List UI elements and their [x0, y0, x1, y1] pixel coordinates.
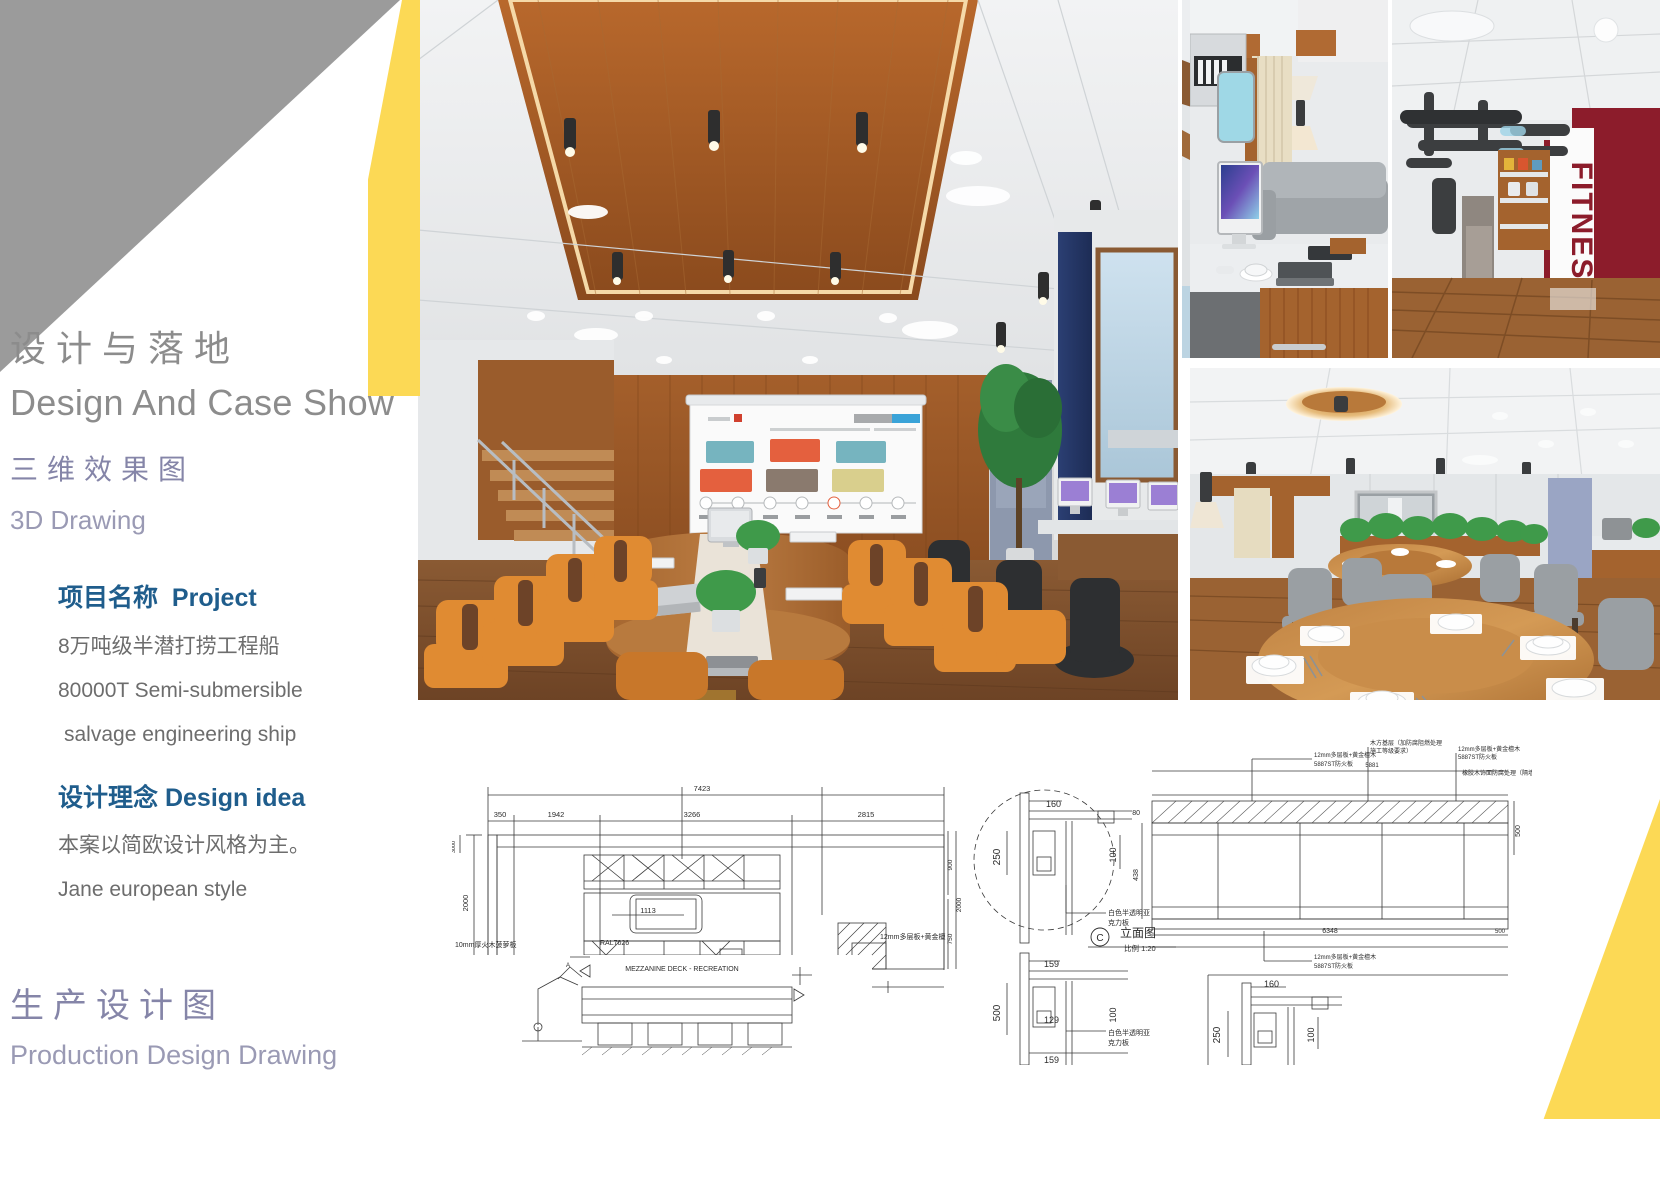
- cad-view-name: 立面图: [1120, 925, 1156, 940]
- svg-text:500: 500: [1515, 825, 1522, 837]
- svg-text:12mm多层板+黄金檀木: 12mm多层板+黄金檀木: [1314, 953, 1376, 961]
- svg-text:100: 100: [1108, 847, 1118, 862]
- section-a-title-en: Design And Case Show: [10, 382, 394, 424]
- design-idea-heading-en: Design idea: [165, 784, 305, 812]
- svg-text:159: 159: [1044, 959, 1059, 969]
- svg-text:438: 438: [1133, 869, 1140, 881]
- svg-text:白色半透明亚: 白色半透明亚: [1108, 908, 1150, 917]
- svg-text:2000: 2000: [461, 895, 470, 912]
- svg-text:橡胶木饰面防腐处理（隔墙）: 橡胶木饰面防腐处理（隔墙）: [1462, 769, 1532, 777]
- svg-text:木方基层（加防腐阻燃处理: 木方基层（加防腐阻燃处理: [1370, 739, 1442, 747]
- svg-text:1942: 1942: [548, 810, 565, 819]
- photo-fitness-room: FITNESS: [1392, 0, 1660, 358]
- svg-text:5887ST防火板: 5887ST防火板: [1458, 753, 1497, 761]
- project-name-cn: 8万吨级半潜打捞工程船: [58, 625, 280, 669]
- svg-text:350: 350: [494, 810, 507, 819]
- svg-text:7423: 7423: [694, 784, 711, 793]
- svg-text:100: 100: [1108, 1007, 1118, 1022]
- svg-text:2815: 2815: [858, 810, 875, 819]
- cad-note-material-2: 12mm多层板+黄金檀: [880, 932, 946, 942]
- cad-section-panel: MEZZANINE DECK - RECREATION A: [452, 955, 872, 1065]
- svg-text:3266: 3266: [684, 810, 701, 819]
- project-name-en-2: salvage engineering ship: [58, 713, 296, 757]
- left-text-column: 设计与落地 Design And Case Show 三维效果图 3D Draw…: [0, 0, 420, 1199]
- svg-text:500: 500: [992, 1004, 1003, 1021]
- svg-text:12mm多层板+黄金檀木: 12mm多层板+黄金檀木: [1458, 745, 1520, 753]
- svg-text:159: 159: [1044, 1055, 1059, 1065]
- svg-text:250: 250: [992, 848, 1003, 865]
- project-heading: 项目名称 Project: [58, 578, 257, 614]
- design-idea-heading-cn: 设计理念: [58, 784, 158, 812]
- project-heading-en: Project: [172, 584, 257, 612]
- svg-text:6348: 6348: [1322, 928, 1338, 935]
- bottom-right-white-cover: [1530, 1119, 1660, 1199]
- svg-text:1113: 1113: [640, 906, 656, 915]
- design-idea-heading: 设计理念 Design idea: [58, 778, 305, 814]
- svg-text:900: 900: [947, 859, 954, 870]
- cad-note-material-1: 10mm厚火木菠萝板: [455, 940, 516, 950]
- svg-text:500: 500: [1495, 929, 1506, 935]
- cad-elevation-title: MEZZANINE DECK - RECREATION: [625, 966, 738, 973]
- svg-text:160: 160: [1046, 799, 1061, 809]
- svg-text:克力板: 克力板: [1108, 1038, 1129, 1047]
- section-a-subtitle-en: 3D Drawing: [10, 505, 146, 536]
- svg-text:2000: 2000: [956, 897, 963, 912]
- svg-text:129: 129: [1044, 1015, 1059, 1025]
- design-idea-text-en: Jane european style: [58, 868, 247, 912]
- svg-text:160: 160: [1264, 979, 1279, 989]
- yellow-corner-bottom-right: [1540, 799, 1660, 1129]
- svg-text:750: 750: [947, 933, 954, 944]
- section-b-title-en: Production Design Drawing: [10, 1040, 337, 1071]
- svg-text:白色半透明亚: 白色半透明亚: [1108, 1028, 1150, 1037]
- cad-view-tag: C: [1096, 933, 1103, 944]
- project-heading-cn: 项目名称: [58, 584, 158, 612]
- svg-text:3000: 3000: [452, 841, 457, 853]
- svg-text:250: 250: [1212, 1026, 1223, 1043]
- svg-text:施工等级要求）: 施工等级要求）: [1370, 747, 1412, 755]
- cad-scale-label: 比例 1:20: [1124, 943, 1156, 953]
- cad-note-ral: RAL7026: [600, 940, 629, 947]
- section-a-subtitle-cn: 三维效果图: [10, 448, 195, 488]
- photo-conference-room: [418, 0, 1178, 700]
- section-a-title-cn: 设计与落地: [10, 320, 240, 372]
- svg-text:5881: 5881: [1365, 763, 1379, 769]
- svg-text:5887ST防火板: 5887ST防火板: [1314, 760, 1353, 768]
- svg-text:100: 100: [1306, 1027, 1316, 1042]
- svg-text:80: 80: [1132, 810, 1140, 817]
- project-name-en-1: 80000T Semi-submersible: [58, 669, 303, 713]
- svg-text:12mm多层板+黄金檀木: 12mm多层板+黄金檀木: [1314, 751, 1376, 759]
- photo-cabin-office: [1190, 0, 1388, 358]
- svg-text:A: A: [566, 963, 570, 969]
- section-b-title-cn: 生产设计图: [10, 978, 225, 1027]
- photo-dining-mess: [1190, 368, 1660, 700]
- svg-text:5887ST防火板: 5887ST防火板: [1314, 962, 1353, 970]
- design-idea-text-cn: 本案以简欧设计风格为主。: [58, 824, 310, 868]
